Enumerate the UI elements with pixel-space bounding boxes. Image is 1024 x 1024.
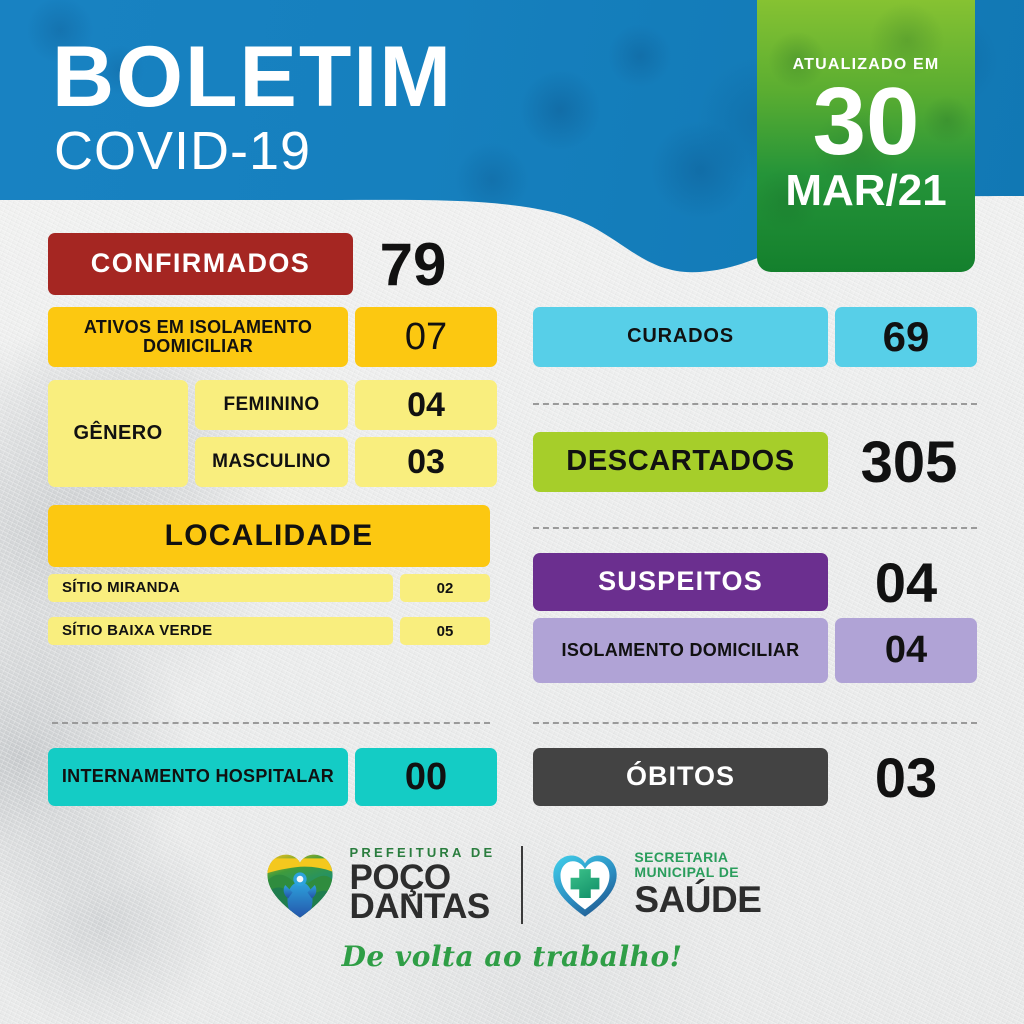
date-badge: ATUALIZADO EM 30 MAR/21 xyxy=(757,0,975,272)
secretaria-logo-text: SECRETARIA MUNICIPAL DE SAÚDE xyxy=(634,850,761,919)
localidade-row: SÍTIO MIRANDA 02 xyxy=(48,574,490,602)
localidade-1-value: 05 xyxy=(400,617,490,645)
divider-right-3 xyxy=(533,722,977,724)
divider-right-1 xyxy=(533,403,977,405)
secretaria-line2: MUNICIPAL DE xyxy=(634,865,761,880)
stat-row-suspeitos: SUSPEITOS 04 xyxy=(533,553,976,611)
logo-divider xyxy=(521,846,523,924)
localidade-0-value: 02 xyxy=(400,574,490,602)
suspeitos-isolamento-label: ISOLAMENTO DOMICILIAR xyxy=(533,618,828,683)
suspeitos-label: SUSPEITOS xyxy=(533,553,828,611)
divider-right-2 xyxy=(533,527,977,529)
ativos-label: ATIVOS EM ISOLAMENTO DOMICILIAR xyxy=(48,307,348,367)
footer: PREFEITURA DE POÇO DANTAS xyxy=(0,846,1024,1024)
divider-left xyxy=(52,722,490,724)
genero-masculino-label: MASCULINO xyxy=(195,437,348,487)
obitos-label: ÓBITOS xyxy=(533,748,828,806)
localidade-row: SÍTIO BAIXA VERDE 05 xyxy=(48,617,490,645)
secretaria-logo-block: SECRETARIA MUNICIPAL DE SAÚDE xyxy=(549,849,761,921)
descartados-value: 305 xyxy=(834,432,984,492)
secretaria-line3: SAÚDE xyxy=(634,881,761,920)
stat-row-obitos: ÓBITOS 03 xyxy=(533,748,976,806)
ativos-value: 07 xyxy=(355,307,497,367)
confirmados-value: 79 xyxy=(353,233,473,295)
genero-label: GÊNERO xyxy=(48,380,188,487)
stat-group-genero: GÊNERO FEMININO 04 MASCULINO 03 xyxy=(48,380,497,487)
prefeitura-logo-block: PREFEITURA DE POÇO DANTAS xyxy=(263,846,496,924)
genero-feminino-label: FEMININO xyxy=(195,380,348,430)
heart-landscape-icon xyxy=(263,848,337,922)
stat-row-confirmados: CONFIRMADOS 79 xyxy=(48,233,473,295)
obitos-value: 03 xyxy=(836,748,976,806)
confirmados-label: CONFIRMADOS xyxy=(48,233,353,295)
prefeitura-line2: DANTAS xyxy=(350,889,496,924)
stat-row-internamento: INTERNAMENTO HOSPITALAR 00 xyxy=(48,748,497,806)
genero-row-feminino: FEMININO 04 xyxy=(195,380,497,430)
date-month-year: MAR/21 xyxy=(757,169,975,213)
internamento-label: INTERNAMENTO HOSPITALAR xyxy=(48,748,348,806)
genero-feminino-value: 04 xyxy=(355,380,497,430)
page-title: BOLETIM xyxy=(52,34,453,120)
heart-cross-health-icon xyxy=(549,849,621,921)
stat-row-descartados: DESCARTADOS 305 xyxy=(533,432,984,492)
genero-rows: FEMININO 04 MASCULINO 03 xyxy=(195,380,497,487)
localidade-1-label: SÍTIO BAIXA VERDE xyxy=(48,617,393,645)
suspeitos-value: 04 xyxy=(836,553,976,611)
genero-masculino-value: 03 xyxy=(355,437,497,487)
covid-bulletin-poster: BOLETIM COVID-19 ATUALIZADO EM 30 MAR/21… xyxy=(0,0,1024,1024)
curados-value: 69 xyxy=(835,307,977,367)
genero-row-masculino: MASCULINO 03 xyxy=(195,437,497,487)
page-subtitle: COVID-19 xyxy=(54,124,311,178)
descartados-label: DESCARTADOS xyxy=(533,432,828,492)
secretaria-line1: SECRETARIA xyxy=(634,850,761,865)
internamento-value: 00 xyxy=(355,748,497,806)
localidade-0-label: SÍTIO MIRANDA xyxy=(48,574,393,602)
stat-row-curados: CURADOS 69 xyxy=(533,307,977,367)
curados-label: CURADOS xyxy=(533,307,828,367)
footer-logos: PREFEITURA DE POÇO DANTAS xyxy=(0,846,1024,924)
stat-row-ativos-isolamento: ATIVOS EM ISOLAMENTO DOMICILIAR 07 xyxy=(48,307,497,367)
stat-row-suspeitos-isolamento: ISOLAMENTO DOMICILIAR 04 xyxy=(533,618,977,683)
date-day: 30 xyxy=(757,76,975,167)
prefeitura-logo-text: PREFEITURA DE POÇO DANTAS xyxy=(350,846,496,924)
suspeitos-isolamento-value: 04 xyxy=(835,618,977,683)
footer-tagline: De volta ao trabalho! xyxy=(0,940,1024,973)
localidade-title: LOCALIDADE xyxy=(48,505,490,567)
